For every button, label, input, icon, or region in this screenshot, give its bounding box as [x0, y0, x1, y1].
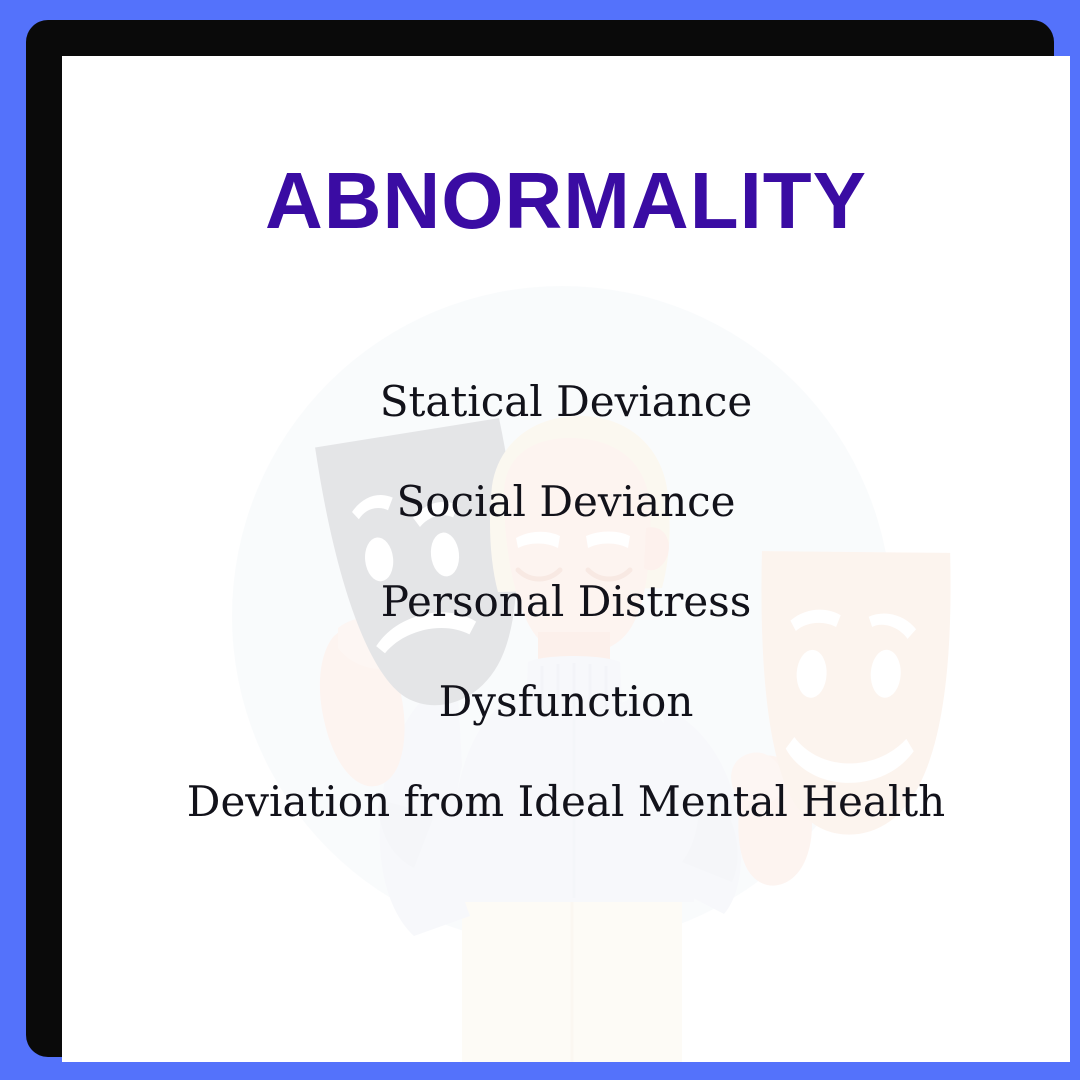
poster-frame: ABNORMALITY Statical Deviance Social Dev… — [26, 20, 1054, 1057]
poster-surface: ABNORMALITY Statical Deviance Social Dev… — [62, 56, 1070, 1062]
content-stack: ABNORMALITY Statical Deviance Social Dev… — [62, 56, 1070, 1062]
list-item: Personal Distress — [381, 581, 752, 623]
page-title: ABNORMALITY — [265, 161, 867, 241]
list-item: Social Deviance — [397, 481, 736, 523]
list-item: Dysfunction — [439, 681, 694, 723]
criteria-list: Statical Deviance Social Deviance Person… — [62, 381, 1070, 823]
list-item: Statical Deviance — [380, 381, 753, 423]
list-item: Deviation from Ideal Mental Health — [187, 781, 945, 823]
poster-canvas: ABNORMALITY Statical Deviance Social Dev… — [0, 0, 1080, 1080]
